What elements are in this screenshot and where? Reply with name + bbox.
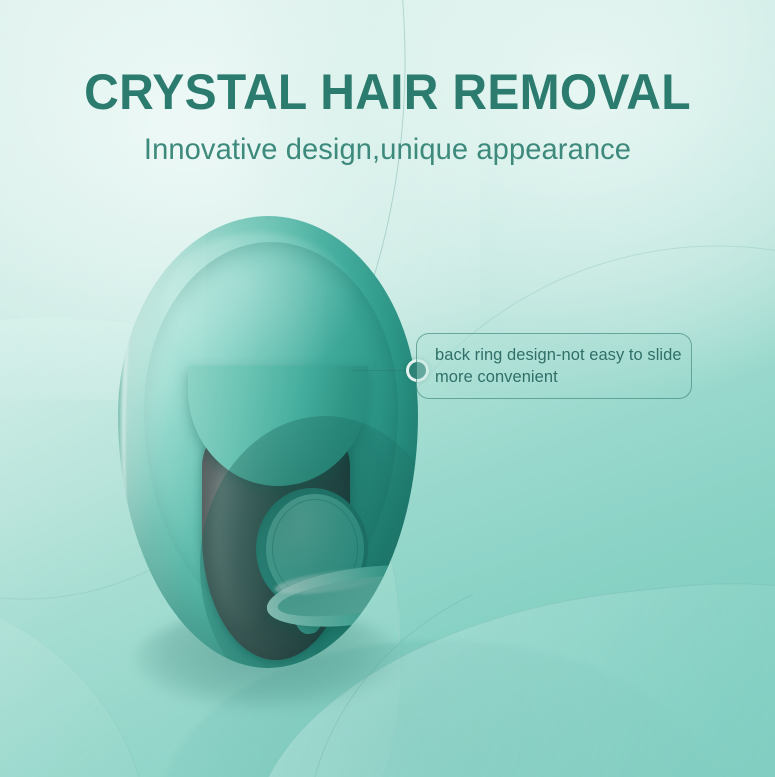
device-left-rim-edge [123, 232, 181, 652]
callout-box: back ring design-not easy to slide more … [416, 333, 692, 399]
callout-leader-line [352, 370, 414, 371]
product-banner: CRYSTAL HAIR REMOVAL Innovative design,u… [0, 0, 775, 777]
page-title: CRYSTAL HAIR REMOVAL [16, 66, 760, 119]
product-image [118, 216, 418, 674]
device-body [118, 216, 418, 668]
page-subtitle: Innovative design,unique appearance [12, 133, 764, 167]
callout-label: back ring design-not easy to slide more … [435, 344, 691, 389]
